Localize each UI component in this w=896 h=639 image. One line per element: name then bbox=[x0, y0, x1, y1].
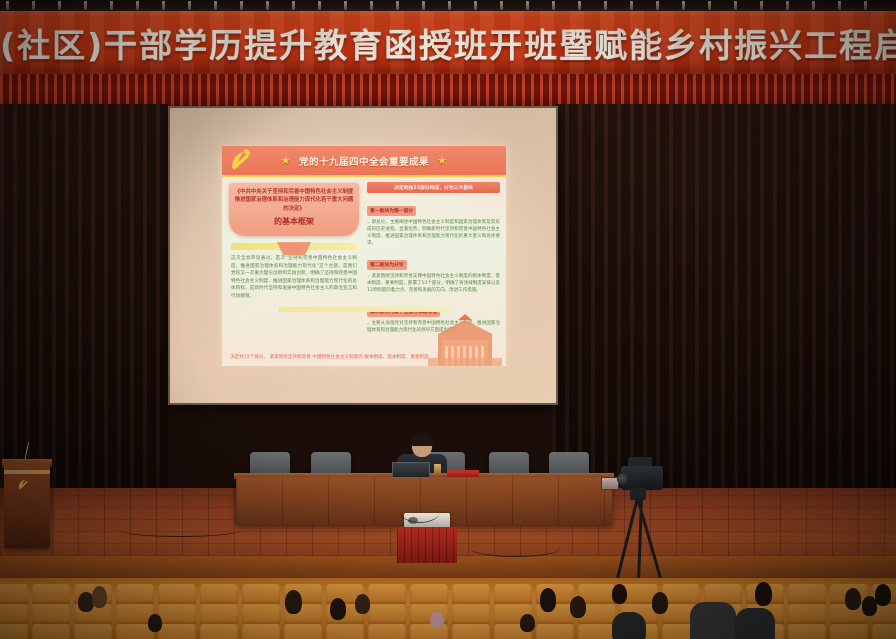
drinking-cup bbox=[434, 464, 441, 474]
slide-header: ★ 党的十九届四中全会重要成果 ★ bbox=[222, 146, 506, 177]
audience-seat bbox=[410, 624, 448, 639]
audience-seat bbox=[368, 604, 406, 624]
banner-clip bbox=[162, 1, 165, 10]
audience-member bbox=[652, 592, 668, 614]
audience-seat bbox=[872, 624, 896, 639]
banner-clip bbox=[656, 1, 659, 10]
divider-bar bbox=[231, 243, 357, 250]
audience-seat bbox=[0, 604, 28, 624]
banner-clip bbox=[552, 1, 555, 10]
banner-clip bbox=[292, 1, 295, 10]
audience-seat bbox=[0, 584, 28, 604]
audience-seat bbox=[32, 604, 70, 624]
cable bbox=[400, 500, 440, 523]
audience-seat bbox=[494, 584, 532, 604]
banner-clip bbox=[422, 1, 425, 10]
audience-seat bbox=[452, 624, 490, 639]
name-plate bbox=[447, 470, 479, 477]
audience-seat bbox=[704, 584, 742, 604]
banner-clip bbox=[266, 1, 269, 10]
event-banner: (社区)干部学历提升教育函授班开班暨赋能乡村振兴工程启动仪式 bbox=[0, 11, 896, 74]
stage-curtain-left bbox=[0, 104, 168, 504]
audience-seat bbox=[788, 584, 826, 604]
audience-seat bbox=[32, 624, 70, 639]
audience-seat bbox=[452, 604, 490, 624]
podium-trim bbox=[4, 470, 50, 474]
banner-clip bbox=[32, 1, 35, 10]
banner-clip bbox=[214, 1, 217, 10]
banner-clip bbox=[786, 1, 789, 10]
banner-clip bbox=[188, 1, 191, 10]
lectern bbox=[4, 462, 50, 548]
slide-title: 党的十九届四中全会重要成果 bbox=[299, 154, 429, 168]
audience-seat bbox=[452, 584, 490, 604]
audience-seat bbox=[284, 624, 322, 639]
slide-footer-note: 决定共15个部分， 紧紧围绕坚持和完善 中国特色社会主义制度的 根本制度、基本制… bbox=[230, 354, 429, 362]
audience-member bbox=[540, 588, 556, 612]
banner-clip bbox=[526, 1, 529, 10]
audience-member bbox=[92, 586, 107, 608]
slide-body-paragraph: 这次全会审议通过，首次“坚持和完善中国特色社会主义制度、推进国家治理体系和治理能… bbox=[229, 255, 359, 300]
audience-seat bbox=[32, 584, 70, 604]
slide-section-tag: 第二板块为分论 bbox=[367, 260, 407, 270]
audience-seat bbox=[242, 584, 280, 604]
banner-clip bbox=[344, 1, 347, 10]
audience-seat bbox=[410, 584, 448, 604]
star-right-icon: ★ bbox=[437, 155, 447, 166]
slide-left-column: 《中共中央关于坚持和完善中国特色社会主义制度 推进国家治理体系和治理能力现代化若… bbox=[222, 177, 364, 366]
banner-clip bbox=[500, 1, 503, 10]
decision-card: 《中共中央关于坚持和完善中国特色社会主义制度 推进国家治理体系和治理能力现代化若… bbox=[229, 183, 359, 236]
hammer-sickle-icon bbox=[16, 477, 30, 491]
audience-member bbox=[520, 614, 535, 632]
banner-clip bbox=[760, 1, 763, 10]
audience-seat bbox=[788, 604, 826, 624]
slide-section-tag: 第一板块为第一部分 bbox=[367, 206, 416, 216]
slide-chevron-divider bbox=[279, 307, 449, 312]
audience-member bbox=[430, 612, 444, 628]
banner-clip bbox=[864, 1, 867, 10]
decision-subtitle: 的基本框架 bbox=[233, 216, 355, 227]
banner-clip bbox=[6, 1, 9, 10]
banner-clip bbox=[136, 1, 139, 10]
banner-clip bbox=[838, 1, 841, 10]
cable bbox=[120, 524, 240, 537]
presentation-slide: ★ 党的十九届四中全会重要成果 ★ 《中共中央关于坚持和完善中国特色社会主义制度… bbox=[222, 146, 506, 364]
banner-clip bbox=[396, 1, 399, 10]
audience-seat bbox=[368, 624, 406, 639]
audience-member bbox=[148, 614, 162, 632]
slide-section-text: ，紧紧围绕坚持和完善支撑中国特色社会主义制度的根本制度、基本制度、重要制度，部署… bbox=[367, 273, 500, 295]
audience-seat bbox=[200, 584, 238, 604]
stage-curtain-right bbox=[552, 104, 896, 504]
great-hall-building-illustration bbox=[428, 314, 502, 366]
audience-seat bbox=[116, 584, 154, 604]
slide-section: 第二板块为分论 ，紧紧围绕坚持和完善支撑中国特色社会主义制度的根本制度、基本制度… bbox=[367, 253, 500, 294]
audience-member bbox=[612, 612, 646, 639]
banner-clip bbox=[58, 1, 61, 10]
banner-clip bbox=[240, 1, 243, 10]
audience-member bbox=[690, 602, 736, 639]
audience-seat bbox=[830, 624, 868, 639]
audience-seat bbox=[158, 604, 196, 624]
audience-seat bbox=[788, 624, 826, 639]
audience-seat bbox=[536, 624, 574, 639]
slide-body: 《中共中央关于坚持和完善中国特色社会主义制度 推进国家治理体系和治理能力现代化若… bbox=[222, 177, 506, 366]
banner-clip bbox=[578, 1, 581, 10]
star-left-icon: ★ bbox=[281, 155, 291, 166]
audience-member bbox=[845, 588, 861, 610]
audience-member bbox=[330, 598, 346, 620]
event-banner-text: (社区)干部学历提升教育函授班开班暨赋能乡村振兴工程启动仪式 bbox=[0, 19, 896, 67]
audience-member bbox=[735, 608, 775, 639]
audience-seating bbox=[0, 578, 896, 639]
audience-seat bbox=[242, 624, 280, 639]
audience-seat bbox=[200, 604, 238, 624]
audience-member bbox=[875, 584, 891, 606]
audience-seat bbox=[326, 624, 364, 639]
audience-seat bbox=[200, 624, 238, 639]
banner-clip bbox=[370, 1, 373, 10]
banner-clip bbox=[318, 1, 321, 10]
slide-section: 第一板块为第一部分 ，即总论，主要阐述中国特色社会主义制度和国家治理体系及其形成… bbox=[367, 199, 500, 247]
banner-clip bbox=[448, 1, 451, 10]
banner-clip bbox=[110, 1, 113, 10]
projector-table bbox=[397, 527, 457, 563]
audience-seat bbox=[158, 624, 196, 639]
audience-member bbox=[612, 584, 627, 604]
audience-seat bbox=[368, 584, 406, 604]
cable bbox=[470, 540, 560, 557]
projection-screen: ★ 党的十九届四中全会重要成果 ★ 《中共中央关于坚持和完善中国特色社会主义制度… bbox=[168, 106, 558, 405]
speaker-hair bbox=[410, 433, 434, 446]
banner-clip bbox=[474, 1, 477, 10]
banner-clip bbox=[630, 1, 633, 10]
slide-ribbon-banner: 决定明由15部分构成，分为三大板块 bbox=[367, 182, 500, 193]
auditorium-photo: (社区)干部学历提升教育函授班开班暨赋能乡村振兴工程启动仪式 ★ 党的十九届四中… bbox=[0, 0, 896, 639]
audience-seat bbox=[158, 584, 196, 604]
banner-clip bbox=[604, 1, 607, 10]
audience-seat bbox=[0, 624, 28, 639]
banner-clip bbox=[682, 1, 685, 10]
banner-clip bbox=[84, 1, 87, 10]
banner-clip bbox=[734, 1, 737, 10]
slide-title-row: ★ 党的十九届四中全会重要成果 ★ bbox=[222, 146, 506, 175]
audience-seat bbox=[242, 604, 280, 624]
audience-member bbox=[285, 590, 302, 614]
slide-section-text: ，即总论，主要阐述中国特色社会主义制度和国家治理体系及其形成的历史进程、显著优势… bbox=[367, 219, 500, 248]
decision-title: 《中共中央关于坚持和完善中国特色社会主义制度 推进国家治理体系和治理能力现代化若… bbox=[233, 188, 355, 213]
laptop bbox=[392, 462, 430, 478]
audience-seat bbox=[578, 624, 616, 639]
banner-clip bbox=[708, 1, 711, 10]
audience-member bbox=[355, 594, 370, 614]
banner-clip bbox=[812, 1, 815, 10]
audience-seat bbox=[74, 624, 112, 639]
audience-member bbox=[570, 596, 586, 618]
camera-lens-icon bbox=[617, 473, 629, 485]
audience-member bbox=[755, 582, 772, 606]
